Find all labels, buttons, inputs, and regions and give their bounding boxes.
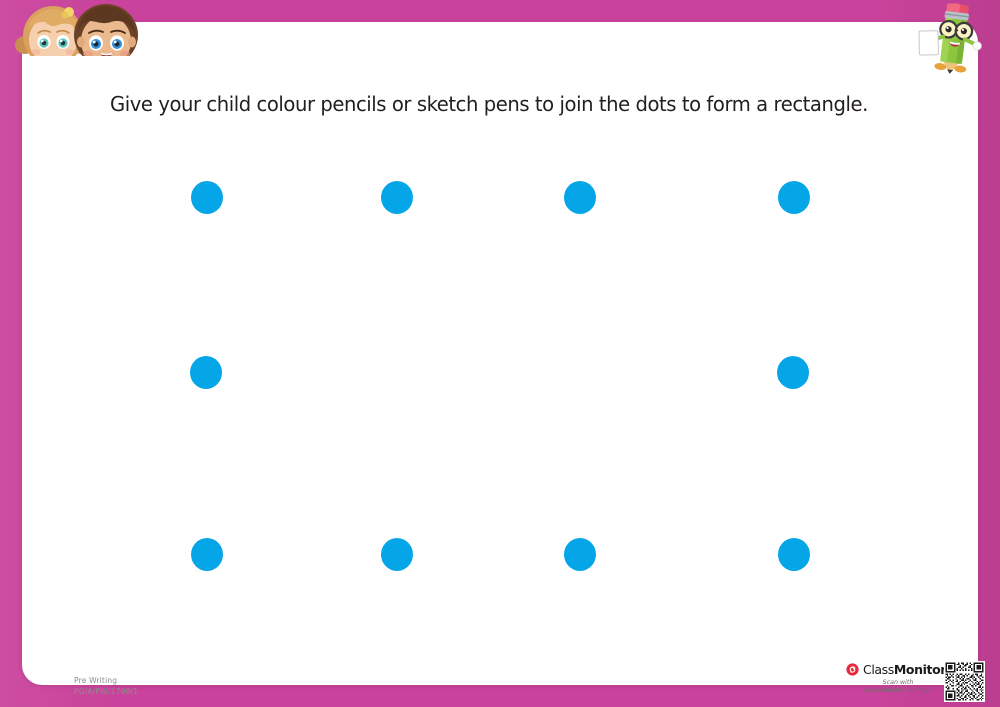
brand-tagline: Scan with ClassMonitor for help. <box>846 679 942 695</box>
worksheet-page: Give your child colour pencils or sketch… <box>0 0 1000 707</box>
worksheet-card: Give your child colour pencils or sketch… <box>22 22 978 685</box>
tagline-line-2: ClassMonitor for help. <box>854 687 942 695</box>
brand-block: ClassMonitor Scan with ClassMonitor for … <box>846 662 942 695</box>
worksheet-code: PG/A/PW/1798/1 <box>74 686 138 697</box>
dot-middle-1 <box>190 356 222 389</box>
instruction-text: Give your child colour pencils or sketch… <box>110 92 893 118</box>
brand-name-light: Class <box>863 662 894 677</box>
brand-name: ClassMonitor <box>863 662 946 677</box>
qr-code[interactable] <box>944 661 985 702</box>
two-children-faces-illustration <box>6 0 140 58</box>
dot-bottom-3 <box>564 538 596 571</box>
green-pencil-character-with-glasses-holding-card <box>916 2 992 74</box>
dot-bottom-2 <box>381 538 413 571</box>
dot-top-3 <box>564 181 596 214</box>
tagline-line-1: Scan with <box>854 679 942 687</box>
dot-middle-2 <box>777 356 809 389</box>
dot-bottom-1 <box>191 538 223 571</box>
worksheet-code-block: Pre Writing PG/A/PW/1798/1 <box>74 675 138 697</box>
dot-top-1 <box>191 181 223 214</box>
subject-label: Pre Writing <box>74 675 138 686</box>
brand-logo-row: ClassMonitor <box>846 662 942 677</box>
dot-top-2 <box>381 181 413 214</box>
dot-bottom-4 <box>778 538 810 571</box>
classmonitor-swirl-icon <box>846 663 859 676</box>
dot-top-4 <box>778 181 810 214</box>
brand-name-bold: Monitor <box>894 662 946 677</box>
